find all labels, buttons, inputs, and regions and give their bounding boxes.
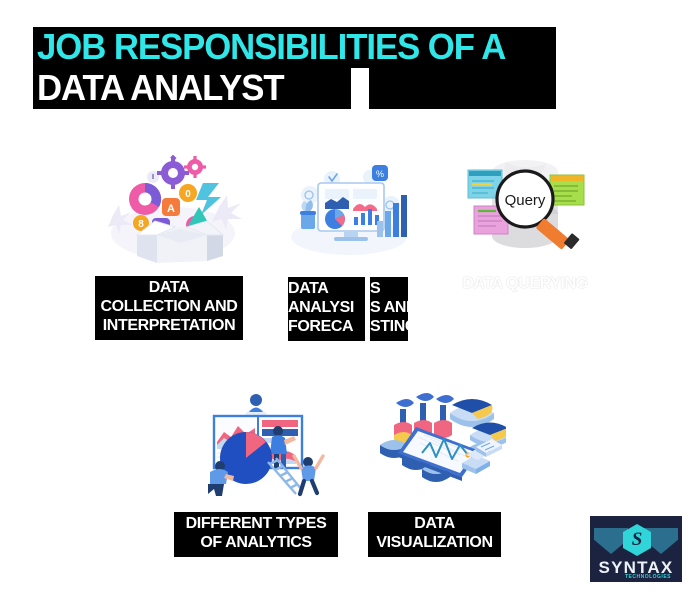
label-line-2: VISUALIZATION — [368, 533, 501, 552]
label-line-2: OF ANALYTICS — [174, 533, 338, 552]
card-data-querying: Query DATA QUERYING — [462, 150, 588, 300]
card-label-data-querying: DATA QUERYING — [442, 274, 608, 298]
card-data-visualization: DATA VISUALIZATION — [372, 385, 506, 550]
label-line-1: DATA QUERYING — [442, 274, 608, 293]
open-box-with-data-icons-icon: 0 A 8 R A — [95, 155, 245, 270]
label-line-1: DATA — [288, 279, 365, 298]
people-dashboard-pie-chart-icon — [186, 390, 326, 500]
title-line-primary: JOB RESPONSIBILITIES OF A — [37, 26, 505, 67]
label-line-3: INTERPRETATION — [95, 316, 243, 335]
label-line-2: S AND — [370, 298, 408, 317]
page-title: JOB RESPONSIBILITIES OF A DATA ANALYST — [33, 27, 556, 109]
card-label-data-visualization: DATA VISUALIZATION — [368, 512, 501, 557]
desktop-monitor-charts-icon: % — [288, 165, 410, 260]
label-line-2: ANALYSI — [288, 298, 365, 317]
svg-text:A: A — [167, 203, 175, 215]
syntax-technologies-logo: S SYNTAX TECHNOLOGIES — [590, 516, 682, 582]
label-line-1: DIFFERENT TYPES — [174, 514, 338, 533]
label-line-1: DATA — [95, 278, 243, 297]
isometric-tablet-charts-icon — [372, 385, 506, 500]
database-magnifier-query-icon: Query — [462, 150, 588, 260]
title-background-row-2-right — [369, 68, 556, 109]
label-line-2: COLLECTION AND — [95, 297, 243, 316]
card-label-different-types-of-analytics: DIFFERENT TYPES OF ANALYTICS — [174, 512, 338, 557]
card-data-analysis: % — [288, 165, 410, 345]
label-line-3: FORECA — [288, 317, 365, 336]
card-label-data-analysis-left: DATA ANALYSI FORECA — [288, 277, 365, 341]
card-data-collection: 0 A 8 R A DATA COLLECTION AND INTERPRETA… — [95, 155, 245, 345]
card-different-types-of-analytics: DIFFERENT TYPES OF ANALYTICS — [186, 390, 326, 555]
logo-s-mark: S — [623, 524, 651, 556]
label-line-1: DATA — [368, 514, 501, 533]
label-line-3: STING — [370, 317, 408, 336]
card-label-data-collection: DATA COLLECTION AND INTERPRETATION — [95, 276, 243, 340]
title-line-secondary: DATA ANALYST — [37, 67, 284, 108]
logo-subtitle: TECHNOLOGIES — [614, 574, 682, 580]
svg-text:%: % — [376, 169, 384, 179]
svg-text:0: 0 — [185, 189, 191, 200]
card-label-data-analysis-right: S S AND STING — [370, 277, 408, 341]
svg-text:8: 8 — [138, 219, 144, 230]
label-line-1: S — [370, 279, 408, 298]
magnifier-query-text: Query — [505, 192, 546, 209]
